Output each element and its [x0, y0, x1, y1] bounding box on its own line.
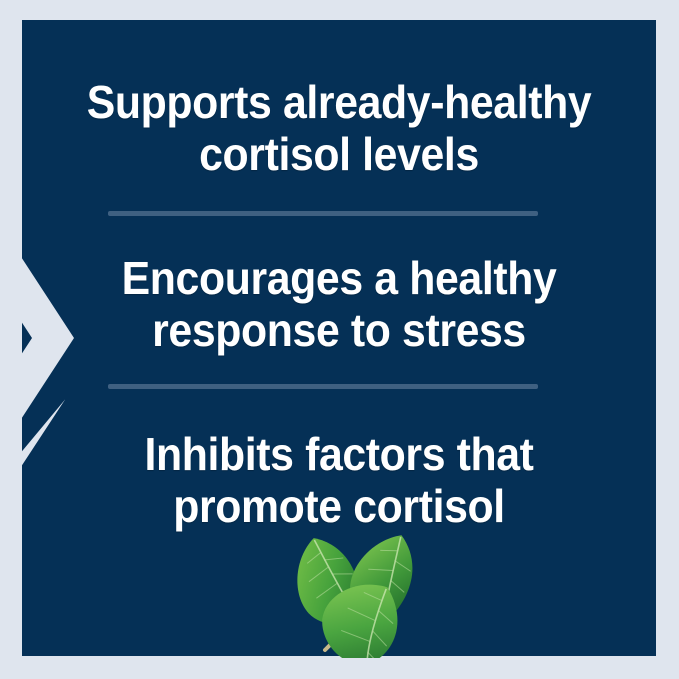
- benefit-2-line-2: response to stress: [44, 304, 634, 356]
- benefit-item-2: Encourages a healthy response to stress: [44, 252, 634, 357]
- benefit-1-line-2: cortisol levels: [44, 128, 634, 180]
- benefit-1-line-1: Supports already-healthy: [44, 76, 634, 128]
- benefit-2-line-1: Encourages a healthy: [44, 252, 634, 304]
- benefit-item-1: Supports already-healthy cortisol levels: [44, 76, 634, 181]
- benefit-3-line-2: promote cortisol: [44, 480, 634, 532]
- product-benefit-card: Supports already-healthy cortisol levels…: [0, 0, 679, 679]
- benefit-item-3: Inhibits factors that promote cortisol: [44, 428, 634, 533]
- benefits-list: Supports already-healthy cortisol levels…: [22, 20, 656, 656]
- benefit-3-line-1: Inhibits factors that: [44, 428, 634, 480]
